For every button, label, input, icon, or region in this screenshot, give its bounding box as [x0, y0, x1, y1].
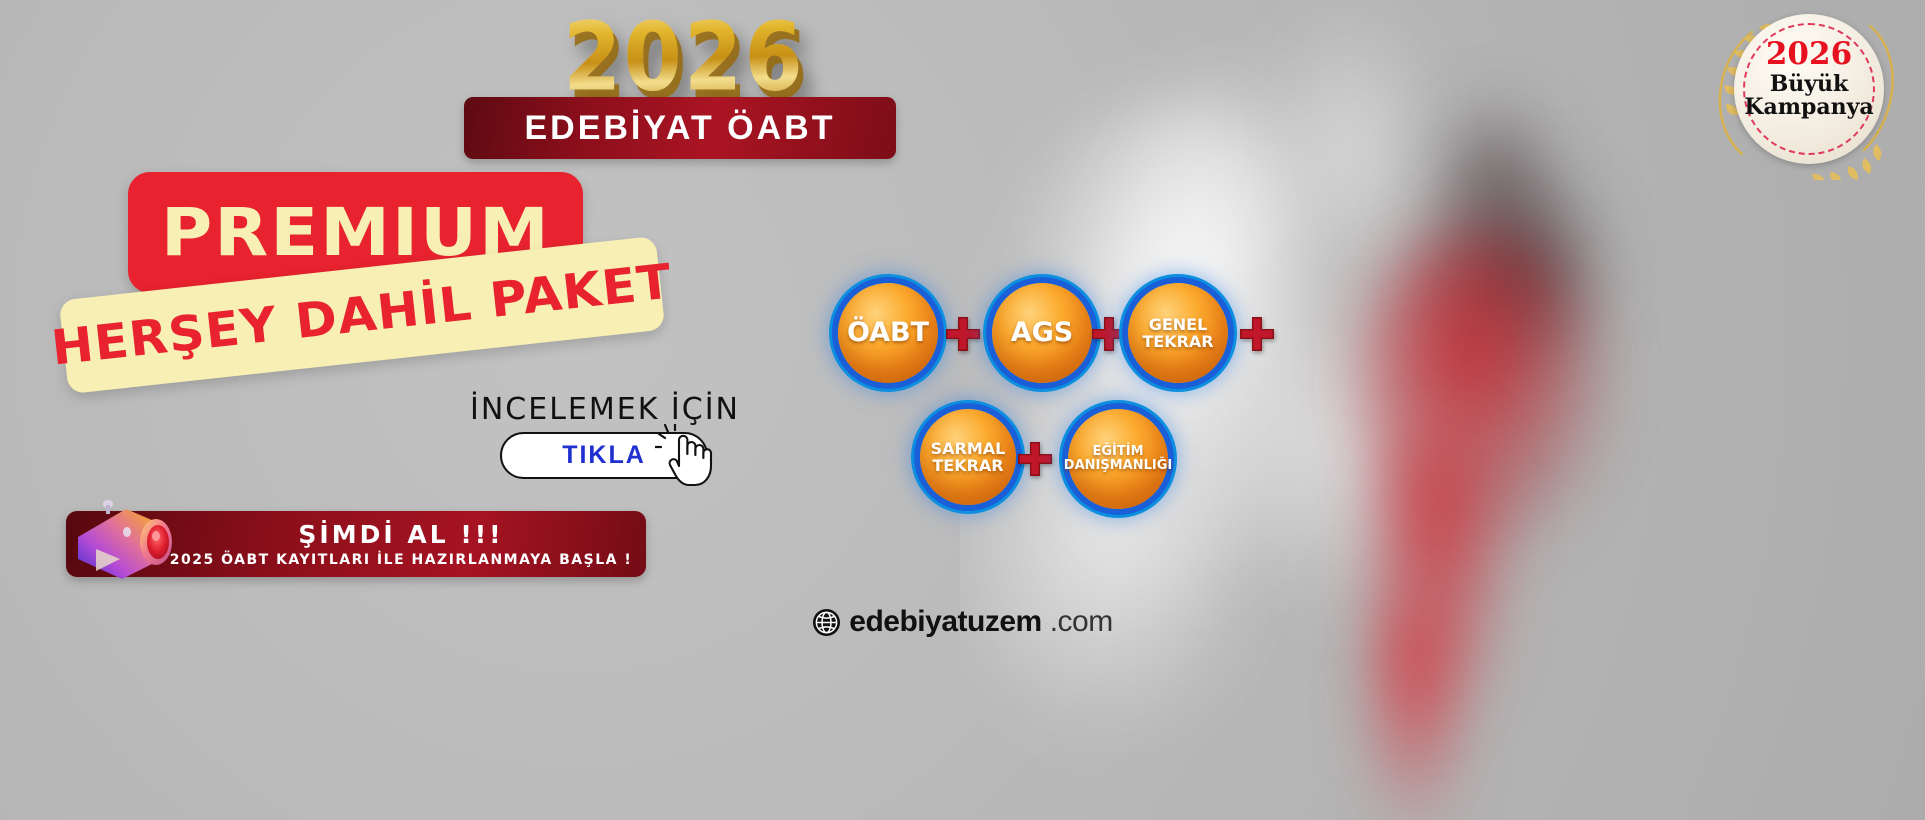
tikla-button-label: TIKLA — [562, 441, 646, 470]
campaign-seal: 2026 Büyük Kampanya — [1698, 2, 1910, 180]
year-2026-title: 2026 — [563, 2, 805, 112]
plan-bubble-oabt: ÖABT — [838, 283, 938, 383]
seal-year: 2026 — [1734, 36, 1884, 72]
pointing-hand-icon — [655, 424, 715, 488]
subject-bar-label: EDEBİYAT ÖABT — [524, 109, 835, 148]
plan-bubble-genel-tekrar: GENEL TEKRAR — [1128, 283, 1228, 383]
plan-bubble-sarmal-tekrar: SARMAL TEKRAR — [920, 409, 1016, 505]
promo-subtitle: 2025 ÖABT KAYITLARI İLE HAZIRLANMAYA BAŞ… — [170, 552, 632, 568]
plan-bubble-label: SARMAL TEKRAR — [920, 440, 1016, 475]
plus-icon — [946, 317, 980, 351]
plan-bubble-ags: AGS — [992, 283, 1092, 383]
plus-icon — [1240, 317, 1274, 351]
seal-line-2: Kampanya — [1734, 94, 1884, 120]
plan-bubble-label: GENEL TEKRAR — [1128, 316, 1228, 351]
plan-bubble-label: EĞİTİM DANIŞMANLIĞI — [1064, 445, 1172, 473]
seal-text-group: 2026 Büyük Kampanya — [1734, 36, 1884, 120]
site-tld: .com — [1050, 605, 1113, 639]
subject-bar: EDEBİYAT ÖABT — [464, 97, 896, 159]
promo-title: ŞİMDİ AL !!! — [298, 520, 503, 549]
plus-icon — [1092, 317, 1126, 351]
megaphone-icon — [68, 497, 183, 589]
cta-kicker-text: İNCELEMEK İÇİN — [470, 392, 740, 427]
site-name: edebiyatuzem — [849, 605, 1041, 639]
plan-bubble-label: ÖABT — [847, 318, 929, 347]
promo-banner: 2026 EDEBİYAT ÖABT PREMIUM HERŞEY DAHİL … — [0, 0, 1925, 820]
plan-bubble-egitim-danismanligi: EĞİTİM DANIŞMANLIĞI — [1068, 409, 1168, 509]
plan-bubble-label: AGS — [1011, 318, 1074, 347]
footer-website[interactable]: edebiyatuzem .com — [0, 605, 1925, 639]
globe-icon — [812, 608, 841, 637]
plus-icon — [1018, 442, 1052, 476]
